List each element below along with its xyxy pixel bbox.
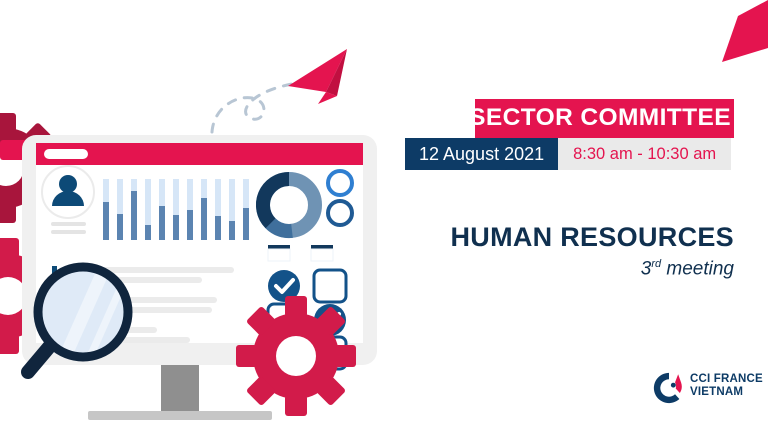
cci-logomark-icon: [652, 371, 686, 405]
gear-bottom-right: [236, 296, 356, 416]
donut-legend-2: [311, 245, 333, 249]
slide-canvas: SECTOR COMMITTEE 12 August 2021 8:30 am …: [0, 0, 768, 432]
logo-line-1: CCI FRANCE: [690, 373, 763, 386]
page-title: HUMAN RESOURCES: [400, 224, 734, 251]
time-text: 8:30 am - 10:30 am: [573, 146, 716, 163]
monitor-stand-neck: [161, 365, 199, 417]
logo-line-2: VIETNAM: [690, 386, 763, 399]
date-badge: 12 August 2021: [405, 138, 558, 170]
avatar-line-1: [51, 222, 86, 226]
logo-wordmark: CCI FRANCE VIETNAM: [690, 373, 763, 398]
titlebar-pill: [44, 149, 88, 159]
subtitle-ordinal: rd: [651, 258, 661, 270]
banner-title: SECTOR COMMITTEE: [469, 106, 731, 131]
donut-legend-1: [268, 245, 290, 249]
date-text: 12 August 2021: [419, 145, 544, 163]
subtitle-rest: meeting: [661, 258, 734, 279]
monitor-stand-base: [88, 411, 272, 420]
event-info-panel: SECTOR COMMITTEE 12 August 2021 8:30 am …: [400, 0, 768, 432]
subtitle-number: 3: [641, 258, 652, 279]
checkbox-2: [314, 270, 346, 302]
time-badge: 8:30 am - 10:30 am: [558, 138, 731, 170]
paper-plane-icon: [288, 49, 347, 104]
hr-dashboard-illustration: [0, 0, 400, 432]
avatar-line-2: [51, 230, 86, 234]
page-subtitle: 3rd meeting: [400, 259, 734, 278]
date-time-row: 12 August 2021 8:30 am - 10:30 am: [405, 138, 731, 170]
cci-france-vietnam-logo: CCI FRANCE VIETNAM: [652, 368, 762, 408]
flight-trail: [212, 84, 292, 132]
sector-committee-banner: SECTOR COMMITTEE: [475, 99, 734, 138]
